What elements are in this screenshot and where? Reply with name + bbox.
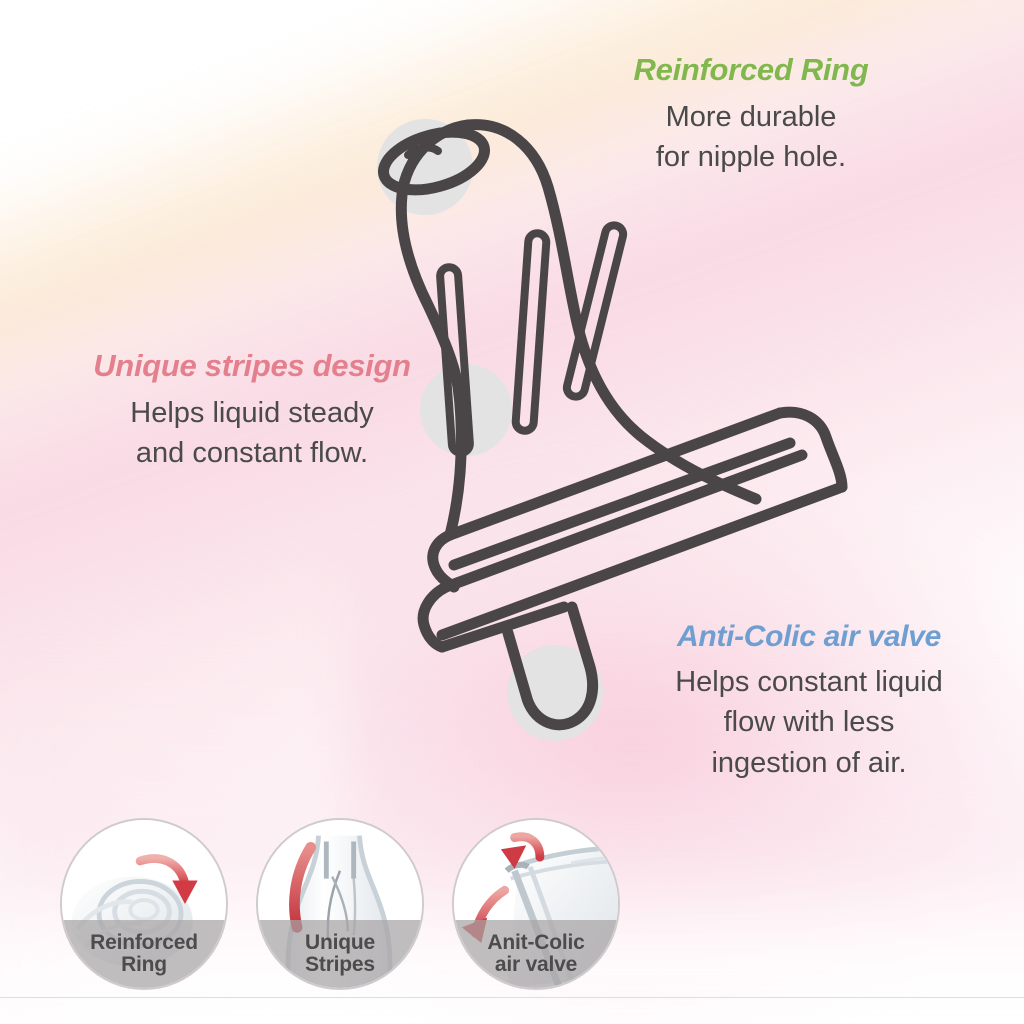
callout-body-line: More durable (516, 97, 986, 137)
callout-body-line: Helps constant liquid (600, 662, 1018, 702)
callout-headline: Anti-Colic air valve (600, 620, 1018, 654)
callout-body: Helps liquid steady and constant flow. (28, 393, 476, 474)
callout-unique-stripes: Unique stripes design Helps liquid stead… (28, 348, 476, 474)
callout-headline: Reinforced Ring (516, 52, 986, 88)
callout-body-line: and constant flow. (28, 433, 476, 473)
callout-body: Helps constant liquid flow with less ing… (600, 662, 1018, 783)
thumbnail-caption: Unique Stripes (258, 920, 422, 988)
thumbnail-unique-stripes[interactable]: Unique Stripes (256, 818, 424, 990)
stripe-center (515, 233, 547, 432)
thumbnail-caption: Reinforced Ring (62, 920, 226, 988)
thumbnail-caption-line: Reinforced (90, 932, 198, 954)
infographic-page: Reinforced Ring More durable for nipple … (0, 0, 1024, 1024)
thumbnail-caption-line: Anit-Colic (487, 932, 584, 954)
flange-band-upper-mid (454, 443, 790, 565)
callout-anti-colic-air-valve: Anti-Colic air valve Helps constant liqu… (600, 620, 1018, 783)
thumbnail-caption-line: air valve (495, 954, 577, 976)
thumbnail-reinforced-ring[interactable]: Reinforced Ring (60, 818, 228, 990)
flange-right-edge (780, 412, 842, 487)
thumbnail-caption-line: Unique (305, 932, 375, 954)
thumbnail-anit-colic-air-valve[interactable]: Anit-Colic air valve (452, 818, 620, 990)
callout-body-line: Helps liquid steady (28, 393, 476, 433)
callout-body: More durable for nipple hole. (516, 97, 986, 178)
callout-headline: Unique stripes design (28, 348, 476, 384)
callout-body-line: flow with less (600, 702, 1018, 742)
thumbnail-caption-line: Stripes (305, 954, 375, 976)
callout-reinforced-ring: Reinforced Ring More durable for nipple … (516, 52, 986, 178)
callout-body-line: ingestion of air. (600, 743, 1018, 783)
callout-body-line: for nipple hole. (516, 137, 986, 177)
feature-thumbnail-row: Reinforced Ring (60, 818, 660, 998)
thumbnail-caption-line: Ring (121, 954, 167, 976)
thumbnail-caption: Anit-Colic air valve (454, 920, 618, 988)
